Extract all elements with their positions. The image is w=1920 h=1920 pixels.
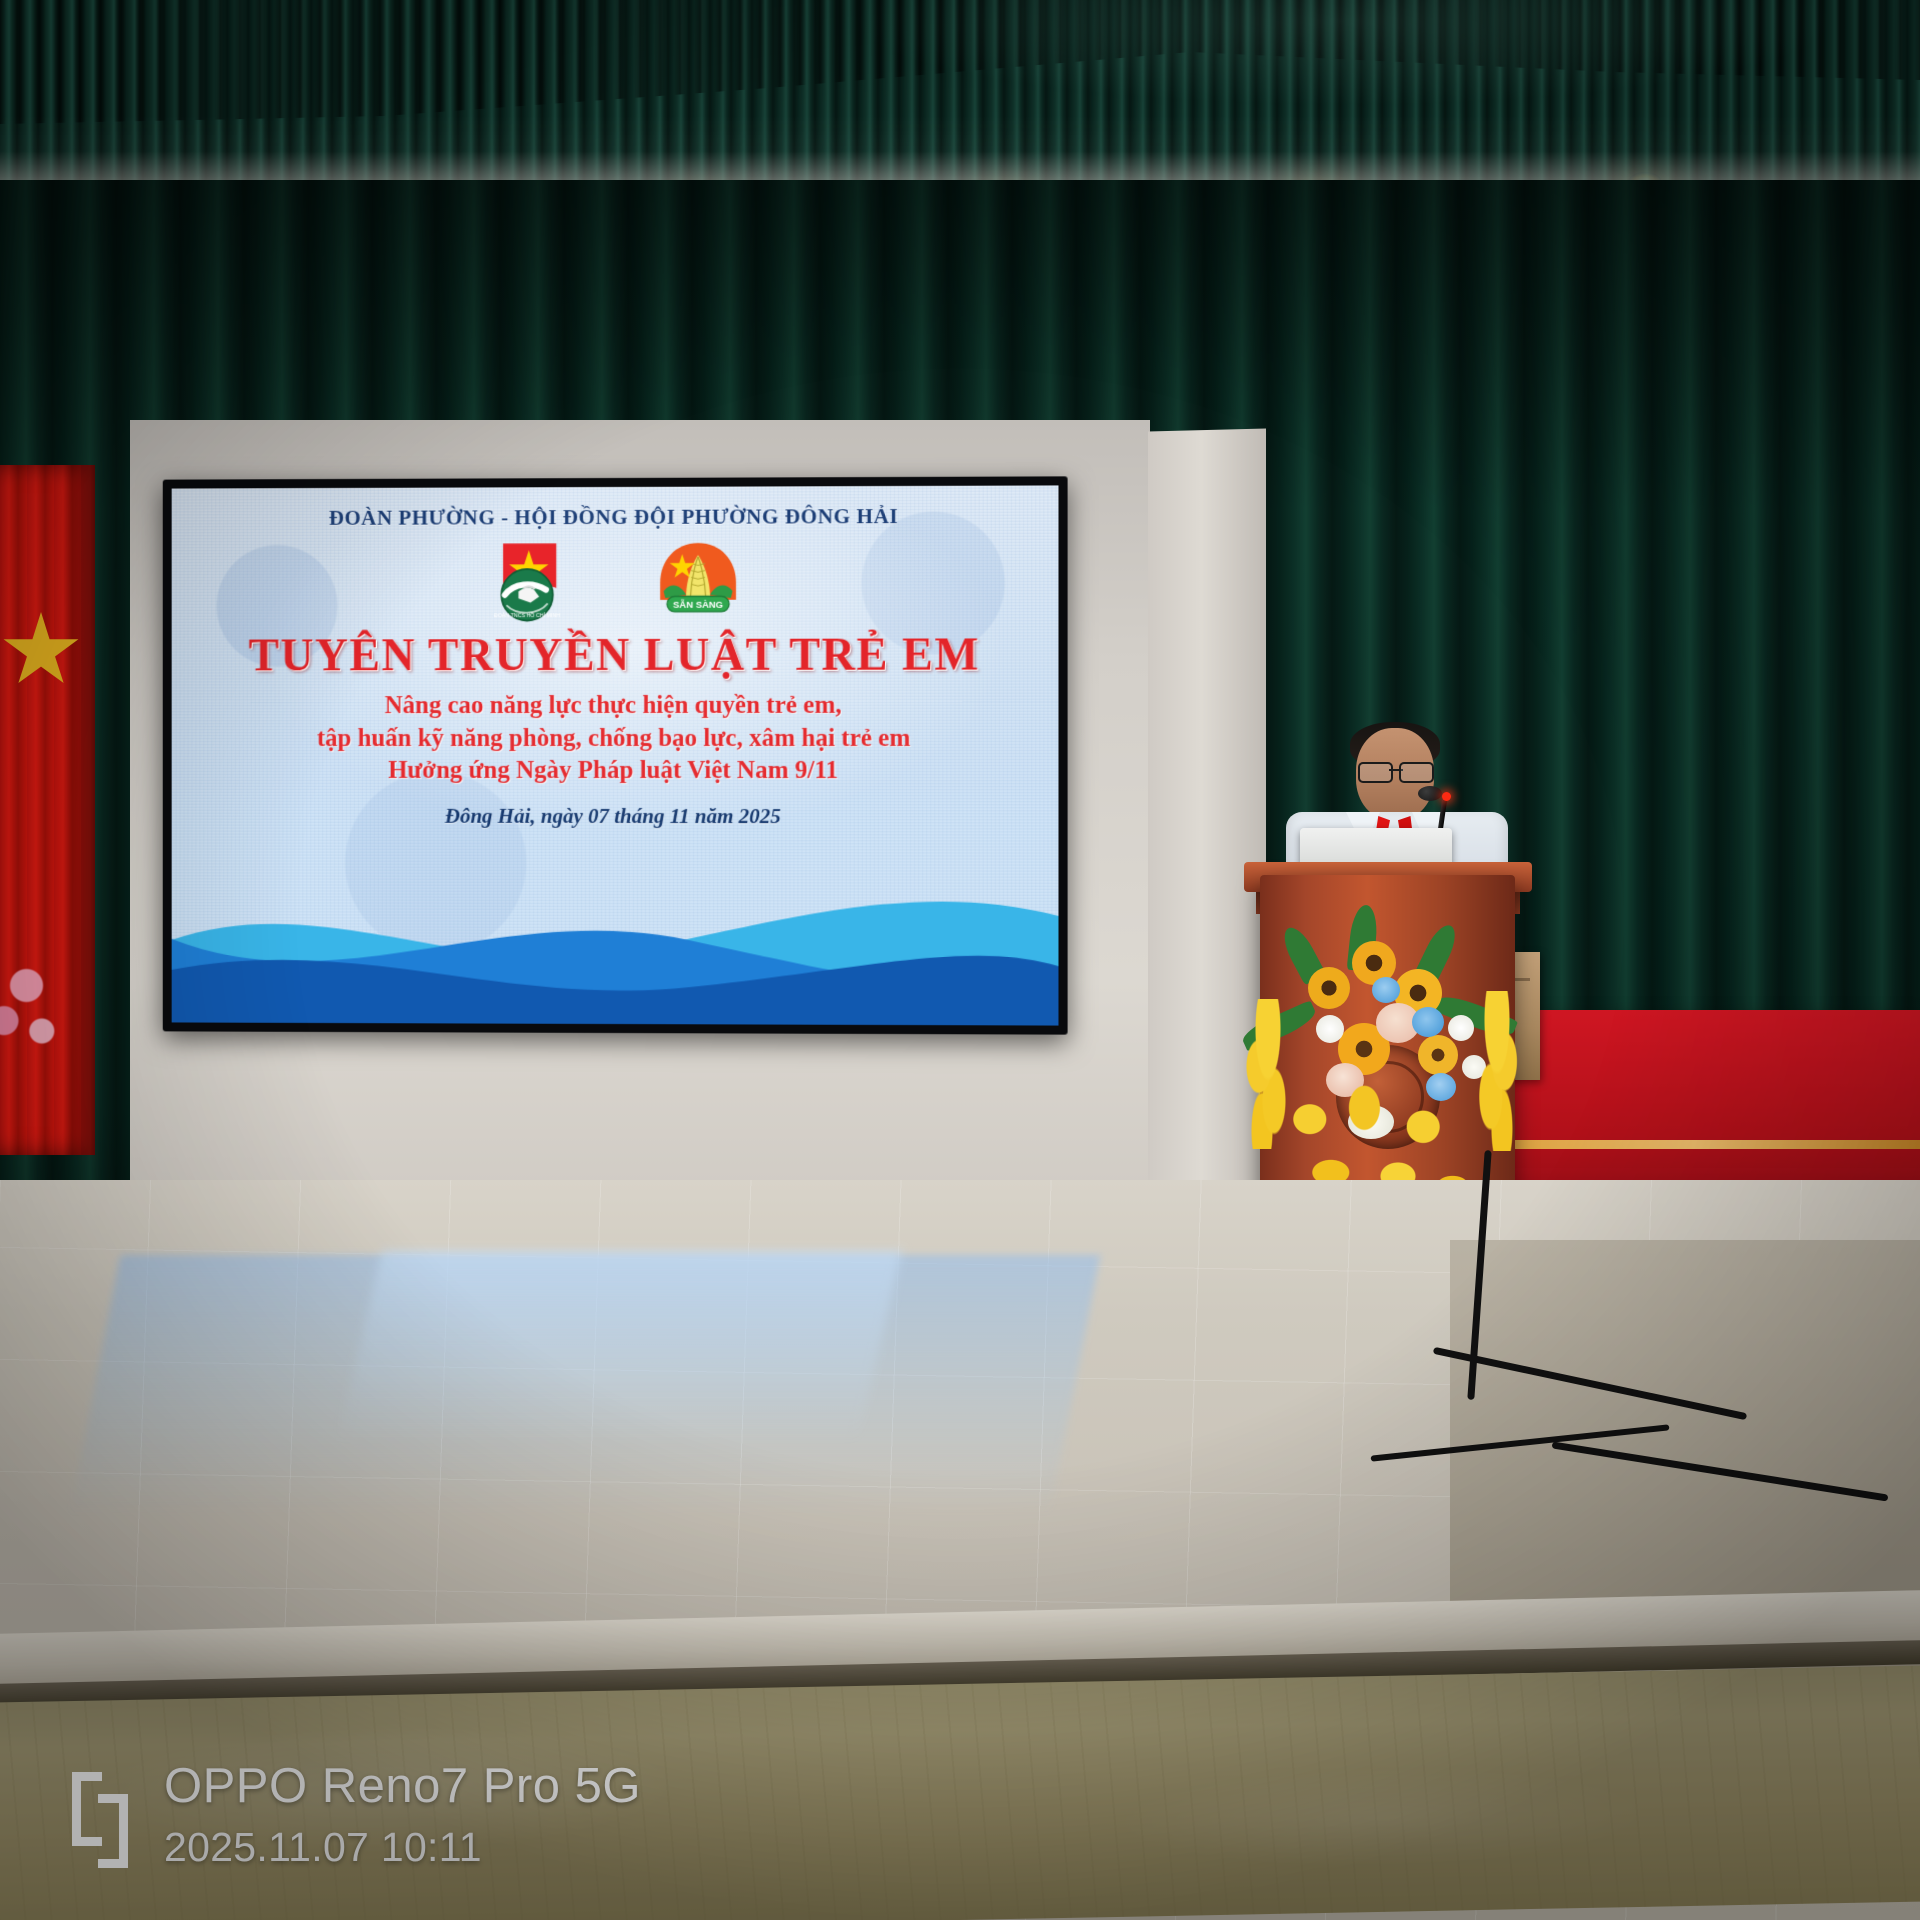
banner-subtitle: Nâng cao năng lực thực hiện quyền trẻ em… [172, 690, 1059, 788]
doi-tntp-san-sang-emblem-icon: SẴN SÀNG [655, 538, 741, 624]
pink-flower-decoration [0, 940, 76, 1070]
svg-text:ĐOÀN TNCS HỒ CHÍ MINH: ĐOÀN TNCS HỒ CHÍ MINH [494, 612, 560, 619]
watermark-model-text: OPPO Reno7 Pro 5G [164, 1758, 641, 1814]
camera-watermark: OPPO Reno7 Pro 5G 2025.11.07 10:11 [72, 1762, 832, 1902]
photo-scene: ĐOÀN PHƯỜNG - HỘI ĐỒNG ĐỘI PHƯỜNG ĐÔNG H… [0, 0, 1920, 1920]
banner-subtitle-line-2: tập huấn kỹ năng phòng, chống bạo lực, x… [172, 722, 1059, 755]
banner-subtitle-line-1: Nâng cao năng lực thực hiện quyền trẻ em… [172, 690, 1059, 723]
banner-logo-row: ĐOÀN TNCS HỒ CHÍ MINH [172, 537, 1059, 625]
valance-sheen [0, 0, 1920, 210]
banner-subtitle-line-3: Hưởng ứng Ngày Pháp luật Việt Nam 9/11 [172, 755, 1059, 788]
microphone-icon [1418, 786, 1442, 801]
banner-header-text: ĐOÀN PHƯỜNG - HỘI ĐỒNG ĐỘI PHƯỜNG ĐÔNG H… [172, 504, 1059, 532]
svg-text:SẴN SÀNG: SẴN SÀNG [673, 598, 723, 609]
led-screen-frame: ĐOÀN PHƯỜNG - HỘI ĐỒNG ĐỘI PHƯỜNG ĐÔNG H… [163, 476, 1068, 1034]
shot-on-oppo-logo-icon [72, 1772, 128, 1868]
led-screen-surface: ĐOÀN PHƯỜNG - HỘI ĐỒNG ĐỘI PHƯỜNG ĐÔNG H… [172, 485, 1059, 1025]
glasses-icon [1358, 762, 1434, 779]
watermark-timestamp: 2025.11.07 10:11 [164, 1824, 482, 1871]
microphone-led-indicator [1442, 792, 1451, 801]
doan-tncs-ho-chi-minh-emblem-icon: ĐOÀN TNCS HỒ CHÍ MINH [484, 538, 570, 624]
floor-highlight-reflection [338, 1250, 902, 1440]
banner-date-line: Đông Hải, ngày 07 tháng 11 năm 2025 [172, 803, 1059, 829]
banner-title: TUYÊN TRUYỀN LUẬT TRẺ EM [172, 627, 1059, 681]
